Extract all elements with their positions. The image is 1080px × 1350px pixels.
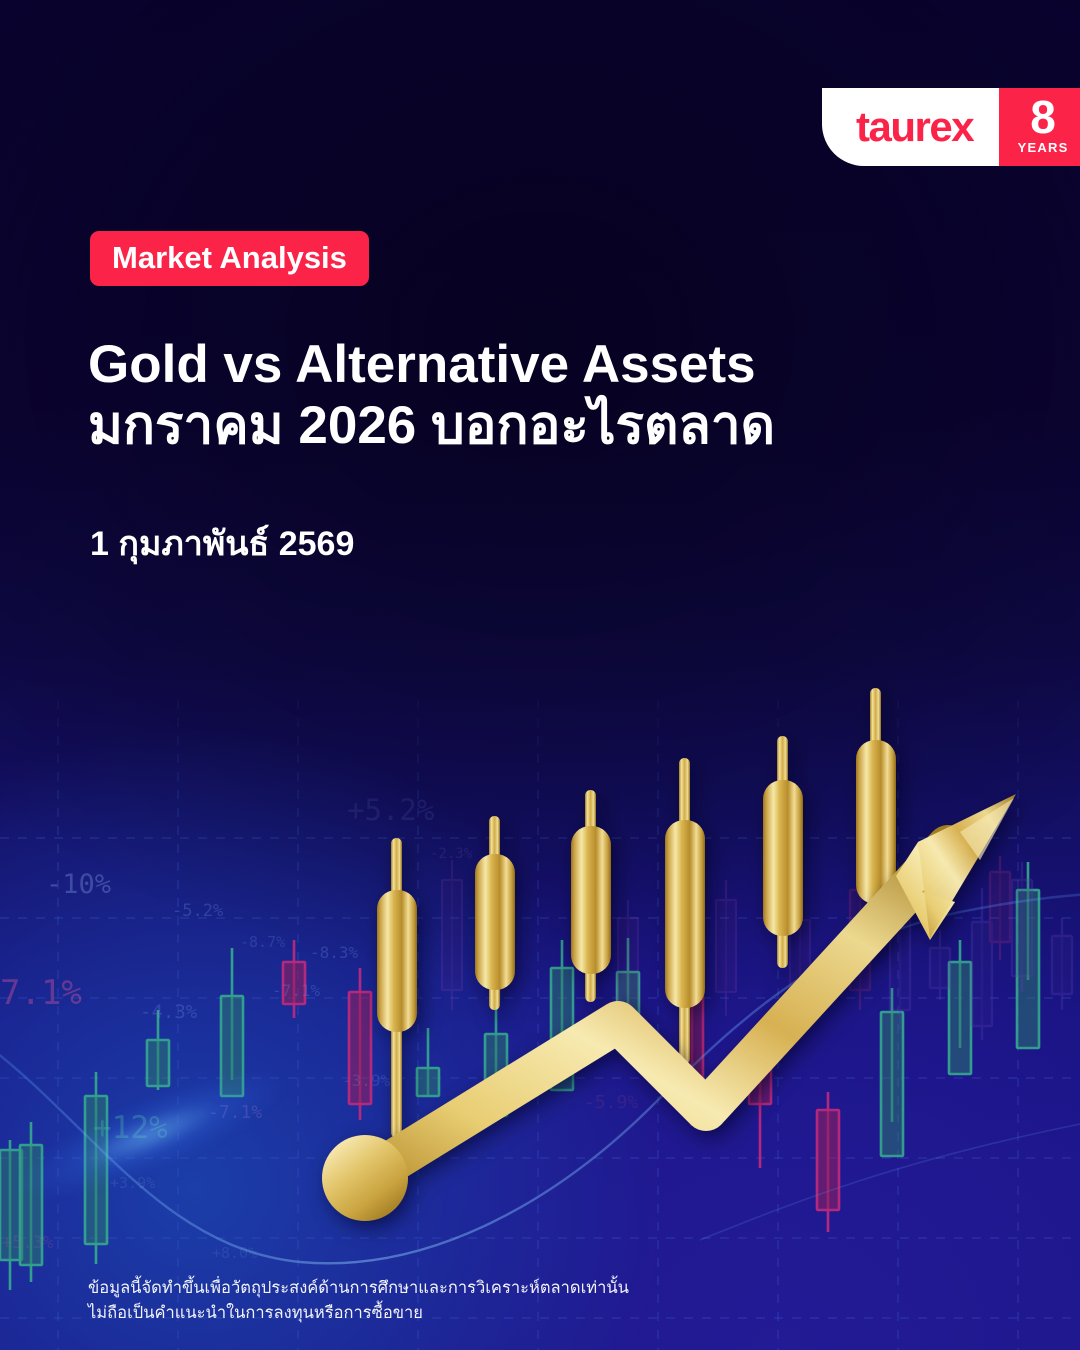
disclaimer: ข้อมูลนี้จัดทำขึ้นเพื่อวัตถุประสงค์ด้านก… [88,1276,629,1326]
anniversary-number: 8 [1030,96,1056,138]
logo-wordmark-block: taurex [822,88,999,166]
category-badge[interactable]: Market Analysis [90,231,369,286]
poster-canvas: -10% -5.2% 7.1% -8.7% -8.3% -4.3% -7.1% … [0,0,1080,1350]
publish-date: 1 กุมภาพันธ์ 2569 [90,527,354,561]
disclaimer-line-2: ไม่ถือเป็นคำแนะนำในการลงทุนหรือการซื้อขา… [88,1301,629,1326]
logo-wordmark: taurex [856,106,973,148]
gold-candlestick-arrow-illustration [0,0,1080,1350]
anniversary-badge: 8 YEARS [999,88,1080,166]
anniversary-label: YEARS [1018,141,1069,154]
taurex-logo[interactable]: taurex 8 YEARS [822,88,1080,166]
headline-line-1: Gold vs Alternative Assets [88,335,756,394]
gold-candle-2 [475,816,515,1010]
gold-candle-3 [571,790,611,1002]
gold-candle-1 [377,838,417,1138]
gold-arrow-ball [322,1135,408,1221]
headline-line-2: มกราคม 2026 บอกอะไรตลาด [88,395,948,456]
gold-candles-group [377,688,896,1138]
gold-candle-4 [665,758,705,1064]
page-title: Gold vs Alternative Assets มกราคม 2026 บ… [88,334,948,457]
disclaimer-line-1: ข้อมูลนี้จัดทำขึ้นเพื่อวัตถุประสงค์ด้านก… [88,1276,629,1301]
gold-candle-5 [763,736,803,968]
